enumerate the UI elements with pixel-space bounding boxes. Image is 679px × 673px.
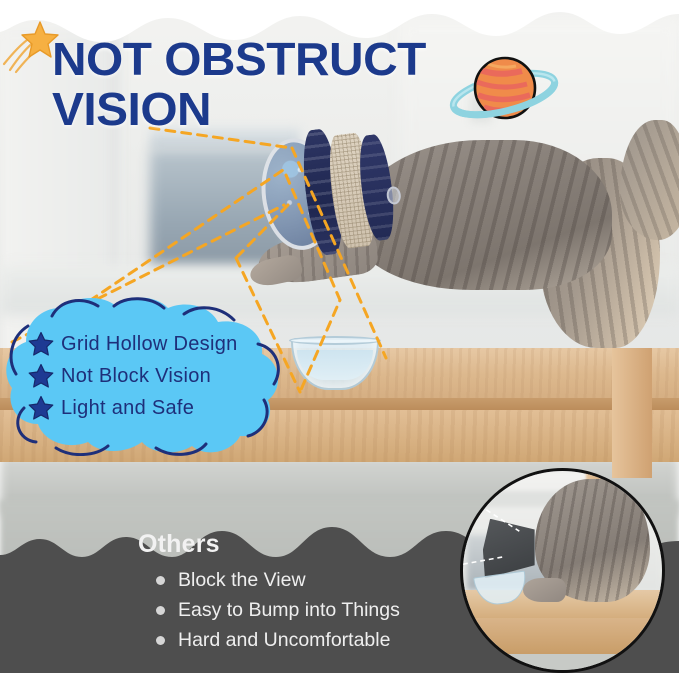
features-list: Grid Hollow Design Not Block Vision Ligh… (6, 296, 296, 456)
feature-item: Grid Hollow Design (28, 328, 296, 360)
inset-circle-frame (460, 468, 665, 673)
feature-label: Not Block Vision (61, 365, 211, 388)
inset-comparison-photo (460, 468, 665, 673)
feature-label: Grid Hollow Design (61, 333, 238, 356)
feature-item: Not Block Vision (28, 360, 296, 392)
others-label: Easy to Bump into Things (178, 599, 400, 622)
inset-blocked-vision-lines (463, 471, 662, 670)
others-list: Block the View Easy to Bump into Things … (156, 565, 470, 655)
feature-label: Light and Safe (61, 397, 194, 420)
saturn-planet-icon (448, 44, 560, 136)
others-item: Easy to Bump into Things (156, 595, 470, 625)
dot-bullet-icon (156, 636, 165, 645)
others-label: Block the View (178, 569, 306, 592)
dot-bullet-icon (156, 576, 165, 585)
others-item: Block the View (156, 565, 470, 595)
dot-bullet-icon (156, 606, 165, 615)
feature-item: Light and Safe (28, 392, 296, 424)
others-label: Hard and Uncomfortable (178, 629, 390, 652)
others-content: Others Block the View Easy to Bump into … (0, 530, 470, 655)
others-item: Hard and Uncomfortable (156, 625, 470, 655)
star-icon (28, 363, 54, 389)
features-cloud-callout: Grid Hollow Design Not Block Vision Ligh… (6, 296, 296, 456)
page-title: NOT OBSTRUCT VISION (52, 34, 426, 134)
star-icon (28, 395, 54, 421)
product-feature-poster: NOT OBSTRUCT VISION (0, 0, 679, 673)
star-icon (28, 331, 54, 357)
others-title: Others (138, 530, 470, 559)
